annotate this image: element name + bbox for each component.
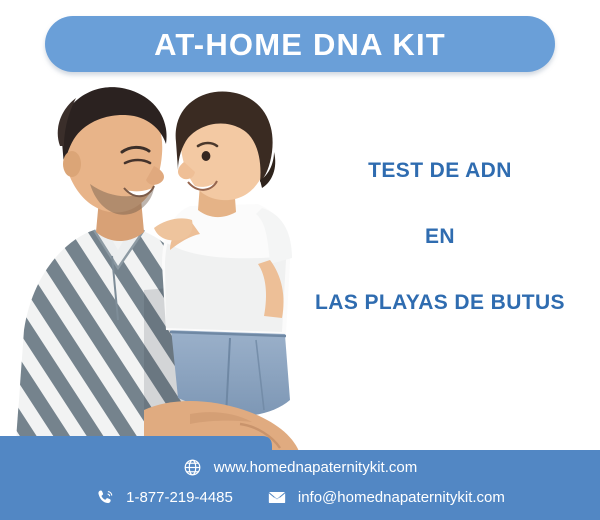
footer-website-row: www.homednapaternitykit.com — [0, 457, 600, 477]
website-contact-item[interactable]: www.homednapaternitykit.com — [183, 457, 417, 477]
footer-phone-email-row: 1-877-219-4485 info@homednapaternitykit.… — [0, 487, 600, 507]
header-band: AT-HOME DNA KIT — [0, 0, 600, 88]
contact-footer: www.homednapaternitykit.com 1-877-219-44… — [0, 430, 600, 520]
envelope-icon — [267, 487, 287, 507]
title-pill: AT-HOME DNA KIT — [45, 16, 555, 72]
headline-line-2: EN — [290, 226, 590, 247]
headline-line-3: LAS PLAYAS DE BUTUS — [290, 292, 590, 313]
dna-kit-promo-poster: AT-HOME DNA KIT — [0, 0, 600, 520]
email-text: info@homednapaternitykit.com — [298, 490, 505, 505]
headline-block: TEST DE ADN EN LAS PLAYAS DE BUTUS — [290, 160, 590, 313]
phone-contact-item[interactable]: 1-877-219-4485 — [95, 487, 233, 507]
headline-line-1: TEST DE ADN — [290, 160, 590, 181]
father-holding-toddler-photo — [0, 80, 324, 465]
phone-text: 1-877-219-4485 — [126, 490, 233, 505]
phone-icon — [95, 487, 115, 507]
email-contact-item[interactable]: info@homednapaternitykit.com — [267, 487, 505, 507]
website-text: www.homednapaternitykit.com — [214, 460, 417, 475]
globe-icon — [183, 457, 203, 477]
footer-contact-rows: www.homednapaternitykit.com 1-877-219-44… — [0, 430, 600, 520]
page-title: AT-HOME DNA KIT — [154, 29, 446, 60]
